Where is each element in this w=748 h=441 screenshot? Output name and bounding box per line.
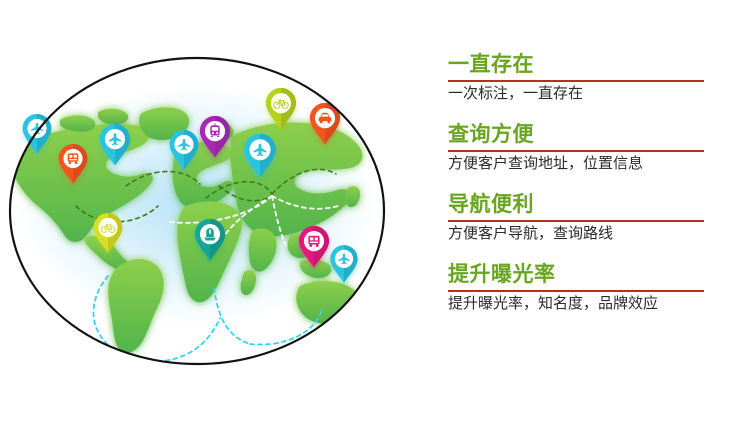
feature-divider [448, 290, 704, 292]
feature-heading: 提升曝光率 [448, 262, 720, 287]
feature-item: 提升曝光率 提升曝光率，知名度，品牌效应 [448, 262, 720, 316]
feature-body: 提升曝光率，知名度，品牌效应 [448, 294, 720, 316]
feature-body: 方便客户导航，查询路线 [448, 224, 720, 246]
feature-list: 一直存在 一次标注，一直存在 查询方便 方便客户查询地址，位置信息 导航便利 方… [448, 52, 720, 316]
promo-banner: 一直存在 一次标注，一直存在 查询方便 方便客户查询地址，位置信息 导航便利 方… [0, 0, 748, 441]
feature-body: 一次标注，一直存在 [448, 84, 720, 106]
feature-item: 查询方便 方便客户查询地址，位置信息 [448, 122, 720, 176]
feature-heading: 导航便利 [448, 192, 720, 217]
feature-divider [448, 150, 704, 152]
feature-divider [448, 220, 704, 222]
world-map-illustration [0, 0, 415, 441]
feature-heading: 一直存在 [448, 52, 720, 77]
feature-heading: 查询方便 [448, 122, 720, 147]
feature-body: 方便客户查询地址，位置信息 [448, 154, 720, 176]
feature-divider [448, 80, 704, 82]
feature-item: 一直存在 一次标注，一直存在 [448, 52, 720, 106]
feature-item: 导航便利 方便客户导航，查询路线 [448, 192, 720, 246]
